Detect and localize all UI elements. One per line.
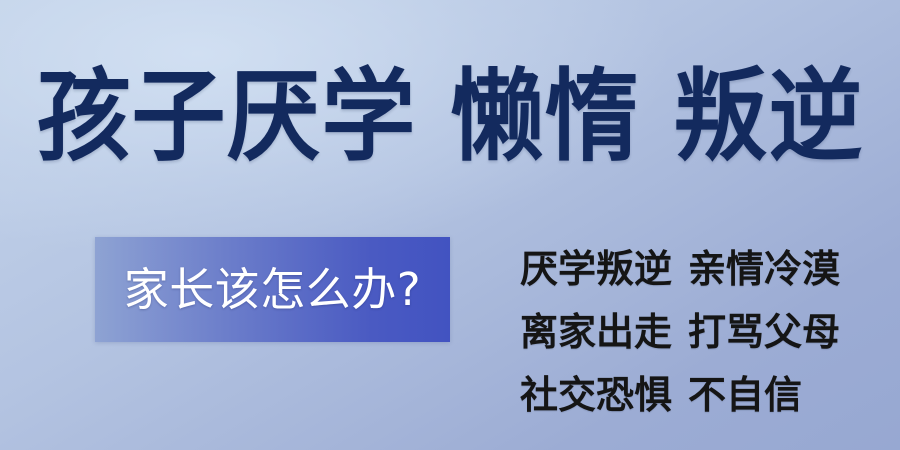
- page-title: 孩子厌学 懒惰 叛逆: [27, 58, 873, 176]
- poster-canvas: 孩子厌学 懒惰 叛逆 家长该怎么办? 厌学叛逆亲情冷漠 离家出走打骂父母 社交恐…: [0, 0, 900, 450]
- symptom-right-3: 不自信: [688, 373, 802, 417]
- symptom-list: 厌学叛逆亲情冷漠 离家出走打骂父母 社交恐惧不自信: [520, 238, 860, 427]
- symptom-right-2: 打骂父母: [688, 310, 840, 354]
- symptom-left-2: 离家出走: [520, 310, 672, 354]
- call-to-action-banner[interactable]: 家长该怎么办?: [95, 237, 450, 342]
- symptom-left-1: 厌学叛逆: [520, 247, 672, 291]
- symptom-right-1: 亲情冷漠: [688, 247, 840, 291]
- symptom-left-3: 社交恐惧: [520, 373, 672, 417]
- list-item: 厌学叛逆亲情冷漠: [520, 238, 860, 301]
- list-item: 离家出走打骂父母: [520, 301, 860, 364]
- call-to-action-label: 家长该怎么办?: [124, 264, 421, 316]
- list-item: 社交恐惧不自信: [520, 364, 860, 427]
